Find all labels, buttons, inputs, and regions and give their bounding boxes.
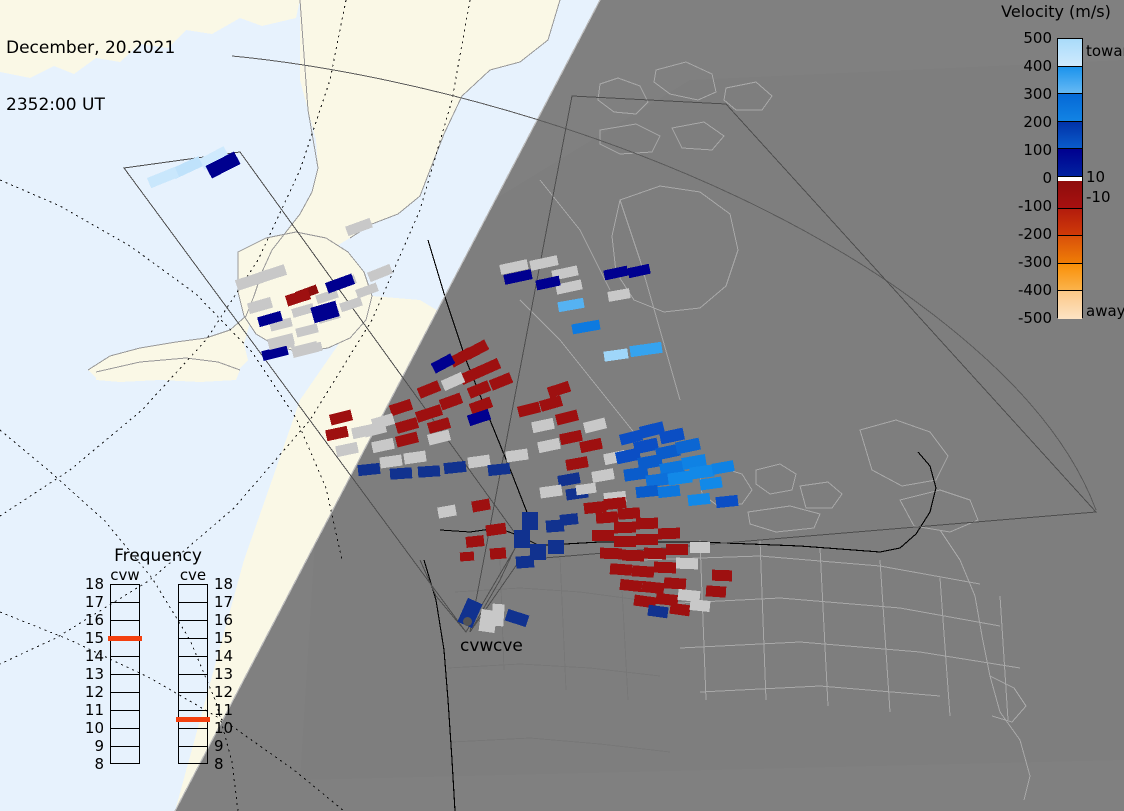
- colorbar-toward-label: toward: [1086, 44, 1124, 59]
- velocity-cell[interactable]: [514, 530, 530, 548]
- frequency-tick-label: 12: [214, 685, 238, 700]
- timestamp-block: December, 20.2021 2352:00 UT: [6, 1, 175, 153]
- colorbar-tick-label: -400: [992, 283, 1052, 298]
- frequency-scale-cvw[interactable]: [110, 584, 140, 764]
- frequency-tick-label: 13: [214, 667, 238, 682]
- velocity-cell[interactable]: [443, 461, 466, 474]
- frequency-tick-label: 8: [214, 757, 238, 772]
- velocity-cell[interactable]: [559, 513, 578, 526]
- velocity-cell[interactable]: [465, 535, 484, 548]
- velocity-cell[interactable]: [596, 511, 619, 524]
- colorbar-pos-threshold-label: 10: [1086, 170, 1105, 185]
- velocity-cell[interactable]: [664, 577, 687, 590]
- frequency-segment: [111, 693, 139, 711]
- frequency-marker-cve: [176, 717, 210, 722]
- frequency-panel: Frequency cvw18171615141312111098cve1817…: [78, 546, 238, 786]
- frequency-tick-label: 10: [214, 721, 238, 736]
- radar-site-marker: [463, 617, 472, 626]
- frequency-tick-label: 12: [80, 685, 104, 700]
- frequency-tick-label: 13: [80, 667, 104, 682]
- velocity-cell[interactable]: [715, 495, 738, 508]
- frequency-tick-label: 18: [80, 577, 104, 592]
- frequency-tick-label: 11: [80, 703, 104, 718]
- colorbar-band: [1058, 122, 1082, 150]
- frequency-segment: [179, 639, 207, 657]
- velocity-cell[interactable]: [522, 512, 538, 530]
- velocity-cell[interactable]: [491, 604, 505, 627]
- frequency-segment: [179, 693, 207, 711]
- velocity-cell[interactable]: [636, 534, 658, 545]
- frequency-tick-label: 14: [214, 649, 238, 664]
- colorbar-band: [1058, 264, 1082, 292]
- colorbar-band: [1058, 209, 1082, 237]
- frequency-tick-label: 9: [80, 739, 104, 754]
- colorbar-tick-labels: 5004003002001000-100-200-300-400-500: [990, 28, 1052, 328]
- velocity-cell[interactable]: [641, 581, 664, 594]
- frequency-segment: [111, 657, 139, 675]
- frequency-tick-label: 17: [80, 595, 104, 610]
- velocity-cell[interactable]: [610, 563, 633, 576]
- colorbar-tick-label: 0: [992, 171, 1052, 186]
- velocity-cell[interactable]: [657, 485, 680, 498]
- frequency-segment: [179, 585, 207, 603]
- colorbar-tick-label: 200: [992, 115, 1052, 130]
- frequency-segment: [179, 675, 207, 693]
- timestamp-date: December, 20.2021: [6, 39, 175, 58]
- frequency-title: Frequency: [78, 546, 238, 566]
- velocity-cell[interactable]: [516, 555, 535, 568]
- colorbar-band: [1058, 181, 1082, 209]
- frequency-marker-cvw: [108, 636, 142, 641]
- velocity-cell[interactable]: [460, 552, 475, 562]
- velocity-cell[interactable]: [690, 542, 710, 553]
- velocity-cell[interactable]: [548, 540, 564, 554]
- colorbar-side-labels: toward10-10away: [1086, 28, 1124, 328]
- frequency-tick-label: 18: [214, 577, 238, 592]
- frequency-tick-label: 14: [80, 649, 104, 664]
- frequency-tick-label: 8: [80, 757, 104, 772]
- colorbar-tick-label: 400: [992, 59, 1052, 74]
- site-label-cve: cve: [493, 636, 523, 656]
- velocity-cell[interactable]: [712, 570, 732, 582]
- velocity-cell[interactable]: [487, 463, 510, 476]
- colorbar-tick-label: -500: [992, 311, 1052, 326]
- colorbar-band: [1058, 94, 1082, 122]
- timestamp-time: 2352:00 UT: [6, 96, 175, 115]
- frequency-segment: [111, 675, 139, 693]
- velocity-cell[interactable]: [614, 536, 636, 547]
- frequency-segment: [111, 747, 139, 765]
- colorbar-title: Velocity (m/s): [988, 2, 1124, 21]
- frequency-segment: [179, 657, 207, 675]
- velocity-cell[interactable]: [635, 485, 658, 498]
- velocity-cell[interactable]: [687, 493, 710, 506]
- frequency-scale-cve[interactable]: [178, 584, 208, 764]
- velocity-cell[interactable]: [636, 518, 658, 530]
- colorbar-band: [1058, 149, 1082, 177]
- velocity-cell[interactable]: [418, 465, 441, 478]
- frequency-tick-label: 16: [80, 613, 104, 628]
- velocity-cell[interactable]: [676, 558, 698, 570]
- velocity-cell[interactable]: [666, 544, 688, 555]
- colorbar-away-label: away: [1086, 304, 1124, 319]
- frequency-segment: [111, 603, 139, 621]
- velocity-cell[interactable]: [357, 463, 380, 476]
- velocity-cell[interactable]: [654, 562, 676, 574]
- velocity-cell[interactable]: [706, 585, 727, 597]
- colorbar-tick-label: 100: [992, 143, 1052, 158]
- colorbar-band: [1058, 67, 1082, 95]
- velocity-cell[interactable]: [689, 599, 710, 612]
- colorbar-tick-label: -200: [992, 227, 1052, 242]
- frequency-tick-label: 9: [214, 739, 238, 754]
- velocity-cell[interactable]: [644, 548, 666, 560]
- frequency-segment: [111, 711, 139, 729]
- colorbar-tick-label: -300: [992, 255, 1052, 270]
- frequency-tick-label: 11: [214, 703, 238, 718]
- colorbar-tick-label: 500: [992, 31, 1052, 46]
- frequency-segment: [179, 729, 207, 747]
- radar-map-application: December, 20.2021 2352:00 UT Velocity (m…: [0, 0, 1124, 811]
- frequency-segment: [111, 585, 139, 603]
- colorbar-gradient-bar[interactable]: [1057, 38, 1083, 318]
- colorbar-band: [1058, 39, 1082, 67]
- colorbar-neg-threshold-label: -10: [1086, 190, 1111, 205]
- frequency-tick-label: 15: [80, 631, 104, 646]
- velocity-cell[interactable]: [583, 501, 606, 514]
- frequency-segment: [111, 639, 139, 657]
- colorbar-band: [1058, 236, 1082, 264]
- velocity-cell[interactable]: [490, 547, 507, 559]
- velocity-cell[interactable]: [603, 497, 626, 510]
- frequency-ticks-cvw: 18171615141312111098: [80, 584, 104, 764]
- colorbar-tick-label: 300: [992, 87, 1052, 102]
- site-label-cvw: cvw: [460, 636, 493, 656]
- colorbar-band: [1058, 291, 1082, 319]
- frequency-tick-label: 15: [214, 631, 238, 646]
- frequency-segment: [179, 621, 207, 639]
- velocity-cell[interactable]: [658, 528, 680, 540]
- velocity-cell[interactable]: [632, 565, 655, 578]
- velocity-cell[interactable]: [390, 467, 413, 480]
- frequency-column-label-cvw: cvw: [96, 566, 154, 584]
- frequency-segment: [111, 729, 139, 747]
- frequency-tick-label: 10: [80, 721, 104, 736]
- frequency-segment: [179, 747, 207, 765]
- velocity-cell[interactable]: [592, 530, 614, 541]
- velocity-cell[interactable]: [614, 522, 636, 534]
- frequency-ticks-cve: 18171615141312111098: [214, 584, 238, 764]
- velocity-cell[interactable]: [622, 550, 644, 562]
- colorbar-tick-label: -100: [992, 199, 1052, 214]
- frequency-tick-label: 16: [214, 613, 238, 628]
- frequency-segment: [179, 603, 207, 621]
- velocity-cell[interactable]: [619, 579, 642, 592]
- velocity-cell[interactable]: [618, 507, 641, 520]
- velocity-cell[interactable]: [600, 548, 622, 560]
- frequency-tick-label: 17: [214, 595, 238, 610]
